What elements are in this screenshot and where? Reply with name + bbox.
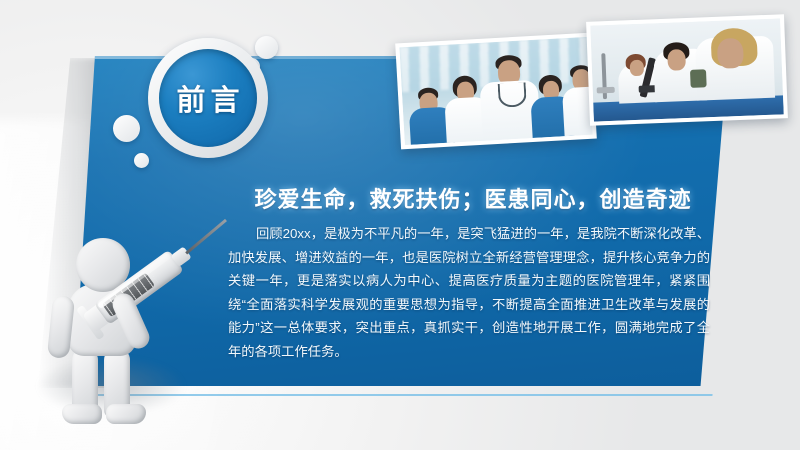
slide-canvas: 前言 [0,0,800,450]
decorative-circle-large [113,115,140,142]
badge-inner-circle: 前言 [159,49,257,147]
section-badge: 前言 [148,38,268,158]
decorative-circle-tiny [134,153,149,168]
badge-label: 前言 [171,77,244,119]
figure-foot-left [62,404,102,424]
3d-figure-with-syringe [28,236,238,426]
lab-research-photo [586,14,788,126]
figure-foot-right [106,404,146,424]
medical-team-photo [395,33,597,150]
slide-headline: 珍爱生命，救死扶伤；医患同心，创造奇迹 [238,182,708,214]
slide-body-text: 回顾20xx，是极为不平凡的一年，是突飞猛进的一年，是我院不断深化改革、加快发展… [228,222,710,363]
